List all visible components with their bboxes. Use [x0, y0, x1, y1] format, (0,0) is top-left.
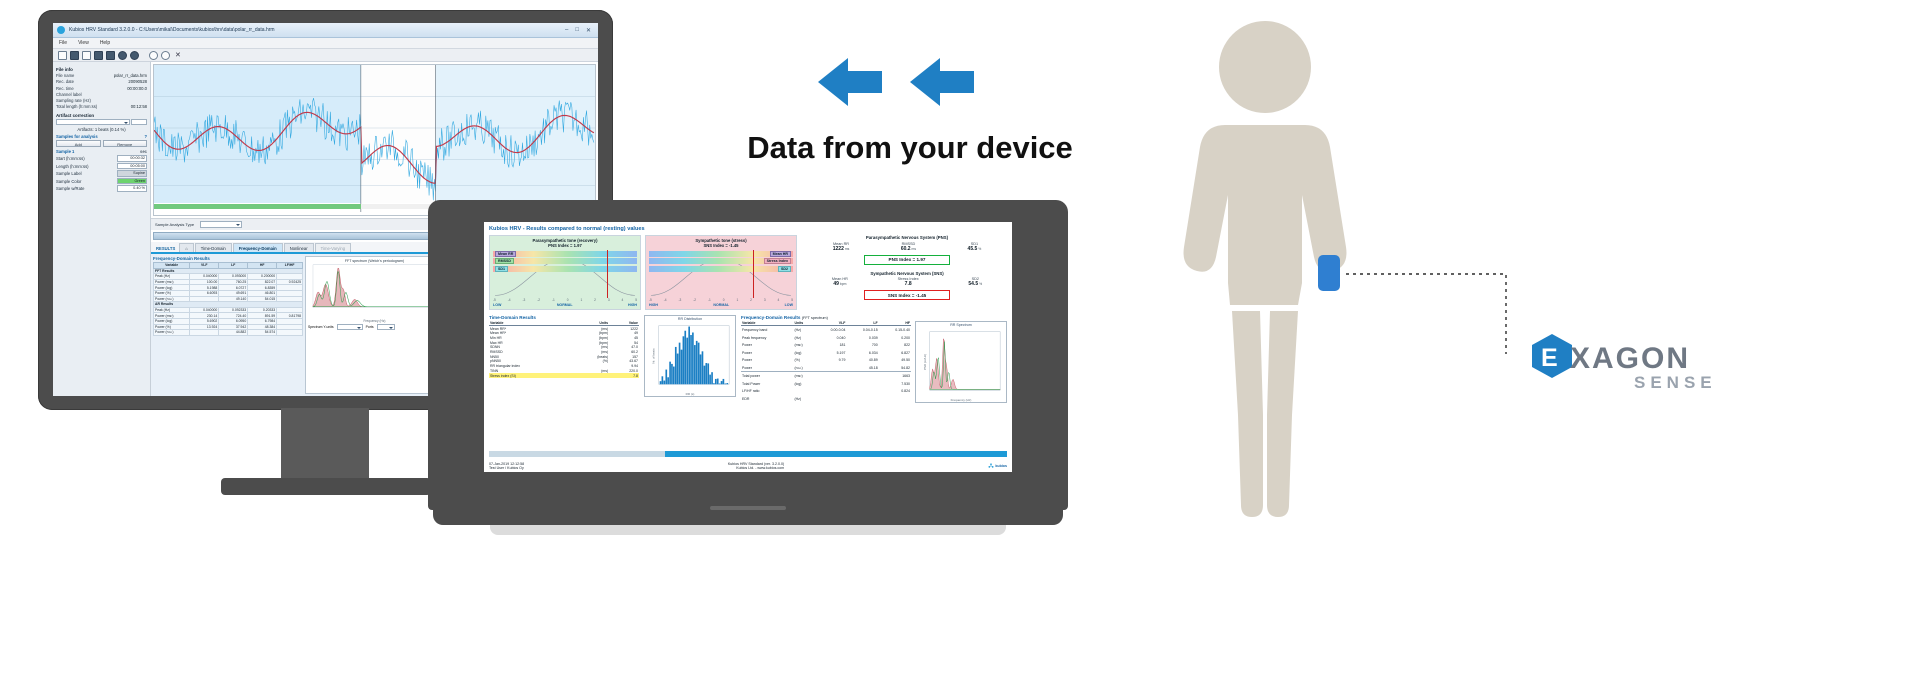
ports-input[interactable]	[377, 324, 395, 330]
fd2-cell: 5.197	[814, 349, 846, 356]
scale-tick: 0	[723, 298, 725, 302]
segment-supine	[154, 204, 361, 209]
rr-series-chart[interactable]	[153, 64, 596, 216]
fd2-cell: 0.040	[814, 334, 846, 341]
sns-bar-label-sd2: SD2	[778, 266, 791, 272]
head-shape	[1219, 21, 1311, 113]
rr-spectrum-plot	[916, 322, 1006, 402]
td-body: Mean RR*(ms)1222Mean HR*(bpm)49Min HR(bp…	[489, 326, 639, 378]
fd2-total-value	[814, 395, 911, 403]
caption-text: Data from your device	[700, 130, 1120, 166]
metric-value: 45.5 %	[968, 246, 982, 252]
fd2-total-value: 7.530	[814, 380, 911, 387]
sample-field-row[interactable]: Sample Label Supine	[56, 170, 147, 177]
minimize-button[interactable]: –	[565, 27, 568, 34]
artifact-correction-row[interactable]	[56, 119, 147, 126]
table-row: Power(ms²)181700822	[741, 341, 911, 348]
fd-cell	[190, 330, 219, 336]
sns-zones: HIGH NORMAL LOW	[649, 303, 793, 307]
fft-spectrum-panel: FFT spectrum (Welch's periodogram) Frequ…	[305, 256, 444, 394]
window-titlebar: Kubios HRV Standard 3.2.0.0 - C:\Users\m…	[53, 23, 598, 38]
time-domain-block: Time-Domain Results VariableUnitsValue M…	[489, 315, 639, 403]
freq-domain-title: Frequency-Domain Results (FFT spectrum)	[741, 315, 1007, 320]
exagon-sense-logo: E XAGON SENSE	[1530, 330, 1730, 400]
fd2-cell: Power	[741, 356, 793, 363]
analysis-sidebar: File info File name polar_rr_data.hrm Re…	[53, 62, 151, 396]
sample-type-select[interactable]	[200, 221, 242, 228]
metric-value: 7.8	[898, 281, 919, 287]
settings-icon[interactable]	[118, 51, 127, 60]
tab-frequency-domain[interactable]: Frequency-Domain	[233, 243, 283, 252]
scale-tick: -5	[649, 298, 652, 302]
file-info-list: File name polar_rr_data.hrm Rec. date 20…	[56, 73, 147, 111]
fd-cell	[277, 330, 303, 336]
table-row: Frequency band(Hz)0.00-0.040.04-0.150.15…	[741, 326, 911, 334]
fd2-cell: 822	[879, 341, 911, 348]
connector-svg	[1346, 268, 1516, 358]
sns-bar-label-meanhr: Mean HR	[770, 251, 791, 257]
maximize-button[interactable]: □	[575, 27, 579, 34]
fd2-cell: 0.200	[879, 334, 911, 341]
sns-zone-low: LOW	[785, 303, 793, 307]
scale-tick: -5	[493, 298, 496, 302]
report-footer-left: 07-Jan-2019 12:12:58 Test User / Kubios …	[489, 462, 524, 470]
rr-distribution-panel: RR Distribution Nr. of beats RR (s)	[644, 315, 736, 397]
fd2-total-label: LF/HF ratio	[741, 388, 793, 395]
samples-header: Samples for analysis ?	[56, 134, 147, 139]
table-row: Stress index (SI)7.8	[489, 373, 639, 378]
fd2-cell: (n.u.)	[793, 364, 814, 372]
scale-tick: -1	[552, 298, 555, 302]
rr-spectrum-panel: RR Spectrum PSD (s²/Hz) Frequency (Hz)	[915, 321, 1007, 403]
fd2-cell: (ms²)	[793, 341, 814, 348]
fd2-cell: 0.04-0.15	[846, 326, 878, 334]
fd2-cell: 54.82	[879, 364, 911, 372]
fd2-total-unit	[793, 388, 814, 395]
scale-tick: -1	[708, 298, 711, 302]
exagon-logo-svg: E XAGON SENSE	[1530, 330, 1730, 400]
scale-tick: 5	[791, 298, 793, 302]
metric-value: 49 bpm	[832, 281, 848, 287]
table-row: Power(%)9.7940.8949.50	[741, 356, 911, 363]
metric-value: 60.2 ms	[901, 246, 916, 252]
fd-cell: 44.882	[219, 330, 248, 336]
pns-bar-sd1: SD1	[493, 266, 637, 272]
pns-panel-title: Parasympathetic Nervous System (PNS)	[807, 235, 1007, 240]
pns-zone-normal: NORMAL	[557, 303, 573, 307]
logo-letter-e: E	[1541, 344, 1558, 372]
sns-zone-high: HIGH	[649, 303, 658, 307]
fd-cell: 54.574	[248, 330, 277, 336]
fd2-cell: (%)	[793, 356, 814, 363]
sample-field-row[interactable]: Sample Color Green	[56, 178, 147, 185]
artifact-select[interactable]	[56, 119, 130, 126]
settings2-icon[interactable]	[130, 51, 139, 60]
sns-panel-title: Sympathetic Nervous System (SNS)	[807, 271, 1007, 276]
save-icon[interactable]	[70, 51, 79, 60]
sample-field-input[interactable]: 0.40 %	[117, 185, 147, 192]
sample-field-label: Sample w/Rate	[56, 186, 84, 191]
fd2-cell: 49.50	[879, 356, 911, 363]
segment-transition	[361, 204, 436, 209]
td-cell: Stress index (SI)	[489, 373, 575, 378]
sample-field-row[interactable]: Start (h:mm:ss) 00:00:32	[56, 155, 147, 162]
freq-domain-content: VariableUnitsVLFLFHF Frequency band(Hz)0…	[741, 321, 1007, 403]
right-leg-shape	[1267, 311, 1298, 517]
connector-dotted-line	[1346, 268, 1516, 358]
metric-label: RMSSD	[901, 242, 916, 246]
sample-field-label: Start (h:mm:ss)	[56, 156, 85, 161]
fd2-cell: (Hz)	[793, 326, 814, 334]
fd-cell: Power (n.u.)	[154, 330, 190, 336]
fd2-total-value: 1663	[814, 372, 911, 380]
remove-sample-button[interactable]: Remove	[103, 140, 148, 147]
kubios-app-icon	[57, 26, 65, 34]
zoom-out-icon[interactable]	[161, 51, 170, 60]
ports-label: Ports	[366, 325, 374, 329]
window-title: Kubios HRV Standard 3.2.0.0 - C:\Users\m…	[69, 27, 275, 33]
rr-spectrum-title: RR Spectrum	[916, 323, 1006, 327]
td-cell: 7.8	[609, 373, 639, 378]
units-select[interactable]	[337, 324, 363, 330]
artifact-note: Artifacts: 1 beats (0.14 %)	[56, 127, 147, 132]
pns-zone-high: HIGH	[628, 303, 637, 307]
arrow-group	[810, 52, 1010, 112]
laptop-foot	[490, 525, 1006, 535]
scale-tick: 1	[736, 298, 738, 302]
samples-help-icon[interactable]: ?	[144, 134, 147, 139]
rr-distribution-ylabel: Nr. of beats	[652, 348, 656, 363]
fft-spectrum-plot	[308, 263, 441, 317]
scale-tick: 1	[580, 298, 582, 302]
file-info-value: 00:12:58	[131, 104, 147, 110]
table-row: Power (n.u.)44.88254.574	[154, 330, 303, 336]
fd2-cell: 6.827	[879, 349, 911, 356]
time-domain-table: VariableUnitsValue Mean RR*(ms)1222Mean …	[489, 321, 639, 378]
fft-x-label: Frequency (Hz)	[308, 319, 441, 323]
sns-needle	[753, 250, 755, 298]
metric: Stress Index 7.8	[898, 277, 919, 287]
sample-field-label: Sample Label	[56, 171, 82, 176]
report-company: Kubios Ltd. - www.kubios.com	[728, 466, 784, 470]
metric-value: 1222 ms	[833, 246, 850, 252]
scale-tick: 3	[764, 298, 766, 302]
sns-bar-stressindex: Stress Index	[649, 258, 793, 264]
metric: Mean HR 49 bpm	[832, 277, 848, 287]
wearable-device	[1318, 255, 1340, 291]
pns-metrics: Mean RR 1222 ms RMSSD 60.2 ms SD1 45.5 %	[807, 242, 1007, 252]
sns-bar-sd2: SD2	[649, 266, 793, 272]
fd-table-block: Frequency-Domain Results VariableVLFLFHF…	[153, 256, 303, 394]
fd2-cell: 40.89	[846, 356, 878, 363]
freq-domain-subtitle: (FFT spectrum)	[802, 316, 828, 320]
sample-field-input[interactable]: Green	[117, 178, 147, 185]
kubios-report: Kubios HRV - Results compared to normal …	[484, 222, 1012, 472]
fd2-cell	[814, 364, 846, 372]
fd-results-table: VariableVLFLFHFLF/HF FFT ResultsPeak (Hz…	[153, 262, 303, 336]
fd2-cell: Peak frequency	[741, 334, 793, 341]
fd2-total-label: Total power	[741, 372, 793, 380]
freq-domain-block: Frequency-Domain Results (FFT spectrum) …	[741, 315, 1007, 403]
sns-zone-normal: NORMAL	[713, 303, 729, 307]
rr-distribution-title: RR Distribution	[645, 317, 735, 321]
arrow-left-icon-2	[910, 58, 974, 106]
arrow-left-icon	[818, 58, 882, 106]
monitor-stand-neck	[281, 408, 369, 480]
fd2-cell: 45.18	[846, 364, 878, 372]
scale-tick: 2	[594, 298, 596, 302]
left-leg-shape	[1232, 311, 1263, 517]
scale-tick: 5	[635, 298, 637, 302]
scale-tick: -4	[508, 298, 511, 302]
menu-bar[interactable]: File View Help	[53, 38, 598, 49]
pns-zone-low: LOW	[493, 303, 501, 307]
pns-bars: Mean RR RMSSD SD1	[493, 251, 637, 297]
menu-help[interactable]: Help	[100, 40, 110, 46]
window-controls[interactable]: – □ ✕	[565, 27, 594, 34]
sns-scale: -5-4-3-2-1012345	[649, 298, 793, 302]
fd2-cell: Power	[741, 364, 793, 372]
sample-label: Sample 1	[56, 149, 74, 154]
kubios-mark-icon	[988, 463, 994, 469]
fd2-cell: (Hz)	[793, 334, 814, 341]
freq-domain-title-main: Frequency-Domain Results	[741, 315, 800, 320]
report-mid-row: Time-Domain Results VariableUnitsValue M…	[489, 315, 1007, 403]
logo-subtitle: SENSE	[1634, 373, 1717, 392]
sample-unit: sec	[140, 149, 147, 154]
scale-tick: -4	[664, 298, 667, 302]
sample-field-input[interactable]: 00:05:00	[117, 163, 147, 170]
file-info-label: Total length (h:mm:ss)	[56, 104, 97, 110]
fd2-cell: 700	[846, 341, 878, 348]
metric: Mean RR 1222 ms	[833, 242, 850, 252]
artifact-spinner[interactable]	[131, 119, 147, 126]
rr-spectrum-ylabel: PSD (s²/Hz)	[923, 354, 927, 370]
fd2-cell: 9.79	[814, 356, 846, 363]
sample-field-input[interactable]: 00:00:32	[117, 155, 147, 162]
rr-distribution-xlabel: RR (s)	[645, 392, 735, 396]
fd2-cell: Frequency band	[741, 326, 793, 334]
kubios-brand: kubios	[988, 462, 1007, 470]
report-footer-bar-left	[489, 451, 665, 457]
fd-results-title: Frequency-Domain Results	[153, 256, 303, 261]
report-footer-bar	[489, 451, 1007, 457]
tab-home[interactable]: ⌂	[179, 243, 194, 252]
kubios-brand-text: kubios	[995, 464, 1007, 468]
sns-gauge: Sympathetic tone (stress) SNS Index = -1…	[645, 235, 797, 310]
fd2-cell: 0.15-0.40	[879, 326, 911, 334]
scale-tick: 4	[622, 298, 624, 302]
save-as-icon[interactable]	[106, 51, 115, 60]
scale-tick: -2	[537, 298, 540, 302]
add-sample-button[interactable]: Add	[56, 140, 101, 147]
sns-bar-meanhr: Mean HR	[649, 251, 793, 257]
ns-summary: Parasympathetic Nervous System (PNS) Mea…	[801, 235, 1007, 310]
rr-spectrum-xlabel: Frequency (Hz)	[916, 398, 1006, 402]
fd2-body: Frequency band(Hz)0.00-0.040.04-0.150.15…	[741, 326, 911, 403]
pns-bar-rmssd: RMSSD	[493, 258, 637, 264]
pns-bar-label-meanrr: Mean RR	[495, 251, 516, 257]
file-info-value: 00:00:00.0	[127, 86, 147, 92]
pns-zones: LOW NORMAL HIGH	[493, 303, 637, 307]
scale-tick: 2	[750, 298, 752, 302]
arrows-svg	[810, 52, 1010, 112]
logo-word-xagon: XAGON	[1570, 342, 1690, 375]
artifact-title: Artifact correction	[56, 113, 147, 118]
metric: SD2 54.5 %	[968, 277, 982, 287]
scale-tick: 3	[608, 298, 610, 302]
samples-title: Samples for analysis	[56, 134, 98, 139]
rr-histogram	[645, 316, 735, 396]
pns-gauge: Parasympathetic tone (recovery) PNS Inde…	[489, 235, 641, 310]
pns-gauge-index: PNS Index = 1.97	[493, 243, 637, 248]
page-icon[interactable]	[82, 51, 91, 60]
sns-index-badge: SNS Index = -1.45	[864, 290, 950, 300]
spectrum-units-row[interactable]: Spectrum Y-units Ports	[308, 324, 441, 330]
table-row: LF/HF ratio 0.824	[741, 388, 911, 395]
tab-time-domain[interactable]: Time-Domain	[195, 243, 232, 252]
fd2-total-value: 0.824	[814, 388, 911, 395]
laptop-screen: Kubios HRV - Results compared to normal …	[484, 222, 1012, 472]
report-top-row: Parasympathetic tone (recovery) PNS Inde…	[489, 235, 1007, 310]
table-row: EDR (Hz)	[741, 395, 911, 403]
report-user: Test User / Kubios Oy	[489, 466, 524, 470]
file-info-row: Total length (h:mm:ss) 00:12:58	[56, 104, 147, 110]
scale-tick: -3	[523, 298, 526, 302]
pns-bar-label-rmssd: RMSSD	[495, 258, 514, 264]
menu-view[interactable]: View	[78, 40, 89, 46]
fd2-cell: 6.034	[846, 349, 878, 356]
table-row: Peak frequency(Hz)0.0400.0390.200	[741, 334, 911, 341]
home-icon[interactable]	[94, 51, 103, 60]
scale-tick: -3	[679, 298, 682, 302]
laptop-trackpad-notch	[710, 506, 786, 510]
fd2-total-label: Total Power	[741, 380, 793, 387]
monitor-stand-base	[221, 478, 431, 495]
laptop: Kubios HRV - Results compared to normal …	[428, 200, 1068, 545]
close-icon[interactable]: ✕	[173, 52, 183, 59]
fd-table-body: FFT ResultsPeak (Hz)0.0400000.0930000.20…	[154, 268, 303, 335]
sns-gauge-index: SNS Index = -1.45	[649, 243, 793, 248]
metric-value: 54.5 %	[968, 281, 982, 287]
freq-domain-table: VariableUnitsVLFLFHF Frequency band(Hz)0…	[741, 321, 911, 403]
pns-bar-meanrr: Mean RR	[493, 251, 637, 257]
time-domain-title: Time-Domain Results	[489, 315, 639, 320]
zoom-in-icon[interactable]	[149, 51, 158, 60]
scale-tick: -2	[693, 298, 696, 302]
fd2-total-label: EDR	[741, 395, 793, 403]
scale-tick: 4	[778, 298, 780, 302]
sns-bar-label-stressindex: Stress Index	[764, 258, 791, 264]
pns-scale: -5-4-3-2-1012345	[493, 298, 637, 302]
open-icon[interactable]	[58, 51, 67, 60]
fd2-total-unit: (log)	[793, 380, 814, 387]
td-cell	[575, 373, 610, 378]
samples-buttons[interactable]: Add Remove	[56, 140, 147, 147]
fd2-total-unit: (ms²)	[793, 372, 814, 380]
fd2-cell: 0.00-0.04	[814, 326, 846, 334]
scene-root: Kubios HRV Standard 3.2.0.0 - C:\Users\m…	[0, 0, 1920, 698]
sample-row-header: Sample 1 sec	[56, 149, 147, 154]
scale-tick: 0	[567, 298, 569, 302]
results-label: RESULTS	[153, 244, 178, 252]
units-label: Spectrum Y-units	[308, 325, 334, 329]
report-footer-right: Kubios HRV Standard (ver. 3.2.0.0) Kubio…	[728, 462, 784, 470]
fd2-cell: Power	[741, 341, 793, 348]
table-row: Power(n.u.)45.1854.82	[741, 364, 911, 372]
fd2-cell: (log)	[793, 349, 814, 356]
table-row: Total Power (log) 7.530	[741, 380, 911, 387]
tab-time-varying[interactable]: Time-Varying	[315, 243, 351, 252]
sample-field-row[interactable]: Sample w/Rate 0.40 %	[56, 185, 147, 192]
sample-field-label: Length (h:mm:ss)	[56, 164, 89, 169]
sample-fields[interactable]: Start (h:mm:ss) 00:00:32 Length (h:mm:ss…	[56, 155, 147, 192]
report-title: Kubios HRV - Results compared to normal …	[489, 226, 1007, 232]
pns-bar-label-sd1: SD1	[495, 266, 508, 272]
metric-label: Mean RR	[833, 242, 850, 246]
table-row: Total power (ms²) 1663	[741, 372, 911, 380]
pns-index-badge: PNS Index = 1.97	[864, 255, 950, 265]
pns-needle	[607, 250, 609, 298]
sample-field-label: Sample Color	[56, 179, 81, 184]
fd2-cell: 181	[814, 341, 846, 348]
metric: SD1 45.5 %	[968, 242, 982, 252]
table-row: Power(log)5.1976.0346.827	[741, 349, 911, 356]
toolbar[interactable]: ✕	[53, 49, 598, 62]
sample-field-input[interactable]: Supine	[117, 170, 147, 177]
sns-metrics: Mean HR 49 bpm Stress Index 7.8 SD2 54.5…	[807, 277, 1007, 287]
fd2-total-unit: (Hz)	[793, 395, 814, 403]
file-info-title: File info	[56, 67, 147, 72]
close-button[interactable]: ✕	[586, 27, 591, 34]
menu-file[interactable]: File	[59, 40, 67, 46]
report-footer: 07-Jan-2019 12:12:58 Test User / Kubios …	[489, 462, 1007, 470]
tab-nonlinear[interactable]: Nonlinear	[284, 243, 314, 252]
fd2-cell: 0.039	[846, 334, 878, 341]
metric: RMSSD 60.2 ms	[901, 242, 916, 252]
fd2-cell: Power	[741, 349, 793, 356]
sample-field-row[interactable]: Length (h:mm:ss) 00:05:00	[56, 163, 147, 170]
sns-bars: Mean HR Stress Index SD2	[649, 251, 793, 297]
